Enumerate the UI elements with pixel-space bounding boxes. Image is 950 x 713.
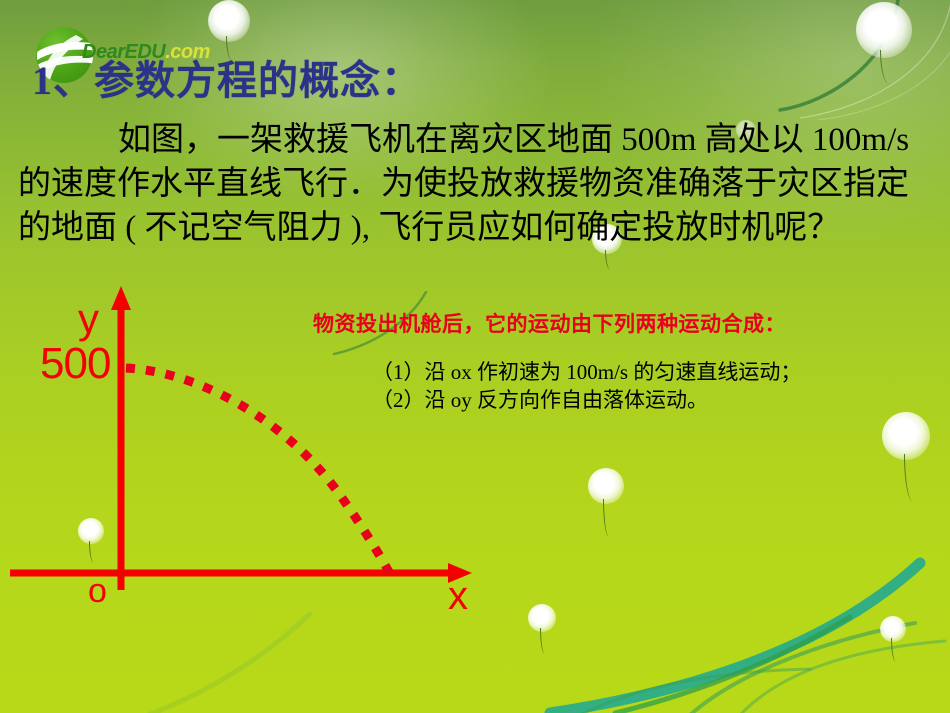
notes-heading: 物资投出机舱后，它的运动由下列两种运动合成： — [313, 308, 786, 338]
x-axis-label: x — [448, 576, 468, 616]
trajectory-curve — [126, 368, 389, 572]
list-item: （1）沿 ox 作初速为 100m/s 的匀速直线运动； — [372, 358, 801, 386]
origin-label: o — [88, 574, 107, 608]
notes-list: （1）沿 ox 作初速为 100m/s 的匀速直线运动； （2）沿 oy 反方向… — [372, 358, 801, 414]
y-axis — [111, 286, 131, 590]
slide-canvas: DearEDU.com 1、参数方程的概念： 如图，一架救援飞机在离灾区地面 5… — [0, 0, 950, 713]
x-axis — [10, 563, 472, 583]
y-axis-label: y — [78, 298, 99, 340]
page-title: 1、参数方程的概念： — [32, 48, 422, 106]
problem-statement: 如图，一架救援飞机在离灾区地面 500m 高处以 100m/s 的速度作水平直线… — [18, 118, 934, 250]
list-item: （2）沿 oy 反方向作自由落体运动。 — [372, 386, 801, 414]
y-tick-label-500: 500 — [40, 342, 110, 386]
